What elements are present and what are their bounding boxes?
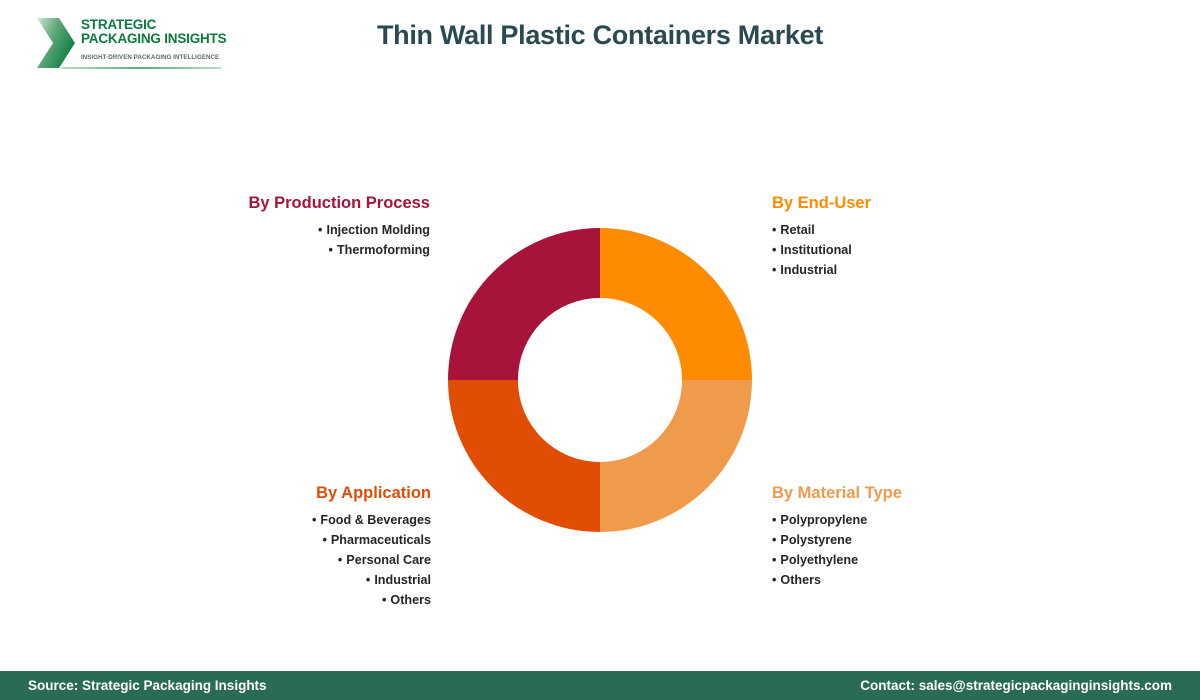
list-item: •Industrial (150, 570, 431, 590)
list-item-label: Industrial (780, 263, 837, 277)
list-item: •Others (772, 570, 1052, 590)
segment-group-material-type: By Material Type •Polypropylene •Polysty… (772, 482, 1052, 590)
segment-list-production-process: •Injection Molding •Thermoforming (160, 220, 430, 260)
page-title: Thin Wall Plastic Containers Market (0, 20, 1200, 51)
bullet-icon: • (366, 573, 370, 587)
logo-divider (61, 67, 221, 69)
footer-bar: Source: Strategic Packaging Insights Con… (0, 671, 1200, 700)
list-item-label: Pharmaceuticals (331, 533, 431, 547)
segment-group-end-user: By End-User •Retail •Institutional •Indu… (772, 192, 1052, 280)
list-item: •Industrial (772, 260, 1052, 280)
segment-title-production-process: By Production Process (160, 192, 430, 214)
infographic-canvas: STRATEGIC PACKAGING INSIGHTS INSIGHT-DRI… (0, 0, 1200, 700)
list-item: •Polystyrene (772, 530, 1052, 550)
bullet-icon: • (772, 223, 776, 237)
list-item-label: Industrial (374, 573, 431, 587)
bullet-icon: • (772, 263, 776, 277)
donut-chart (440, 220, 760, 540)
bullet-icon: • (772, 533, 776, 547)
segment-group-production-process: By Production Process •Injection Molding… (160, 192, 430, 260)
donut-center-hole (518, 298, 682, 462)
bullet-icon: • (312, 513, 316, 527)
bullet-icon: • (772, 573, 776, 587)
list-item: •Polypropylene (772, 510, 1052, 530)
list-item-label: Institutional (780, 243, 851, 257)
bullet-icon: • (338, 553, 342, 567)
list-item-label: Others (390, 593, 431, 607)
list-item-label: Personal Care (346, 553, 431, 567)
list-item: •Thermoforming (160, 240, 430, 260)
list-item: •Institutional (772, 240, 1052, 260)
bullet-icon: • (318, 223, 322, 237)
bullet-icon: • (329, 243, 333, 257)
list-item-label: Others (780, 573, 821, 587)
list-item-label: Polypropylene (780, 513, 867, 527)
segment-title-material-type: By Material Type (772, 482, 1052, 504)
list-item-label: Thermoforming (337, 243, 430, 257)
list-item: •Others (150, 590, 431, 610)
list-item-label: Injection Molding (326, 223, 430, 237)
list-item-label: Retail (780, 223, 814, 237)
segment-group-application: By Application •Food & Beverages •Pharma… (150, 482, 431, 610)
bullet-icon: • (772, 513, 776, 527)
bullet-icon: • (772, 243, 776, 257)
segment-list-end-user: •Retail •Institutional •Industrial (772, 220, 1052, 280)
segment-list-material-type: •Polypropylene •Polystyrene •Polyethylen… (772, 510, 1052, 590)
footer-source: Source: Strategic Packaging Insights (28, 678, 267, 693)
bullet-icon: • (322, 533, 326, 547)
list-item: •Pharmaceuticals (150, 530, 431, 550)
list-item: •Personal Care (150, 550, 431, 570)
segment-title-end-user: By End-User (772, 192, 1052, 214)
footer-contact[interactable]: Contact: sales@strategicpackaginginsight… (860, 678, 1172, 693)
bullet-icon: • (382, 593, 386, 607)
donut-chart-svg (440, 220, 760, 540)
list-item: •Injection Molding (160, 220, 430, 240)
list-item: •Polyethylene (772, 550, 1052, 570)
list-item-label: Polyethylene (780, 553, 858, 567)
list-item-label: Polystyrene (780, 533, 851, 547)
segment-list-application: •Food & Beverages •Pharmaceuticals •Pers… (150, 510, 431, 610)
list-item: •Retail (772, 220, 1052, 240)
list-item-label: Food & Beverages (320, 513, 431, 527)
list-item: •Food & Beverages (150, 510, 431, 530)
bullet-icon: • (772, 553, 776, 567)
logo-tagline: INSIGHT-DRIVEN PACKAGING INTELLIGENCE (81, 54, 219, 61)
segment-title-application: By Application (150, 482, 431, 504)
